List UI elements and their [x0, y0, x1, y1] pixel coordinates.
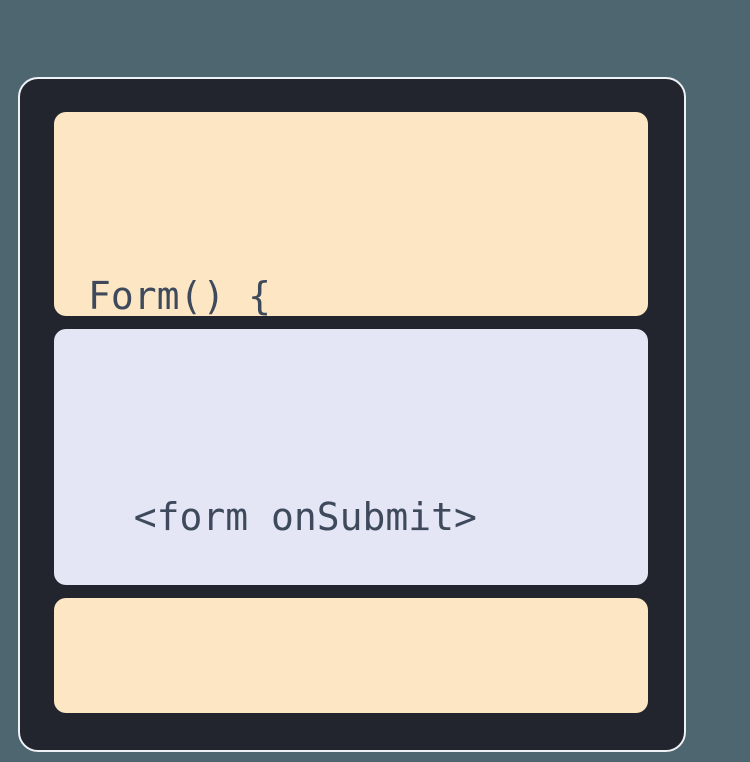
- closing-brace-block: }: [54, 598, 648, 714]
- component-function-block: Form() { onClick() {...} onSubmit() {...…: [54, 112, 648, 316]
- code-card: Form() { onClick() {...} onSubmit() {...…: [18, 77, 686, 752]
- jsx-markup-block: <form onSubmit> <input onClick /> <input…: [54, 329, 648, 585]
- code-line: <form onSubmit>: [88, 485, 634, 550]
- diagram-canvas: Form() { onClick() {...} onSubmit() {...…: [0, 0, 750, 762]
- code-line: Form() {: [88, 264, 634, 316]
